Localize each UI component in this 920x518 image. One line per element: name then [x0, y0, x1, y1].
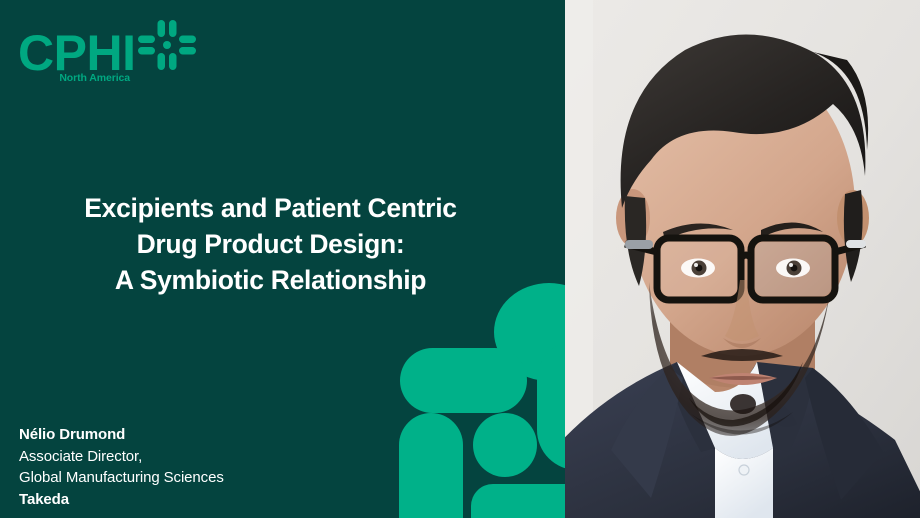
- slide-title: Excipients and Patient Centric Drug Prod…: [0, 190, 541, 298]
- deco-circle-center: [473, 413, 537, 477]
- deco-pill-wide: [400, 348, 527, 413]
- deco-pill-bottom: [471, 484, 565, 518]
- speaker-name: Nélio Drumond: [19, 424, 224, 446]
- slide-left-panel: CPHI North America: [0, 0, 565, 518]
- slide-title-line-2: Drug Product Design:: [0, 226, 541, 262]
- deco-pill-right-tall: [537, 340, 565, 470]
- portrait-illustration: [565, 0, 920, 518]
- cphi-region-label: North America: [18, 72, 130, 84]
- cphi-burst-icon: [136, 16, 198, 74]
- speaker-role-line-1: Associate Director,: [19, 446, 224, 468]
- speaker-block: Nélio Drumond Associate Director, Global…: [19, 424, 224, 510]
- slide-title-line-1: Excipients and Patient Centric: [0, 190, 541, 226]
- cphi-logo: CPHI North America: [18, 14, 193, 92]
- presentation-slide: CPHI North America: [0, 0, 920, 518]
- slide-title-line-3: A Symbiotic Relationship: [0, 262, 541, 298]
- speaker-company: Takeda: [19, 489, 224, 511]
- speaker-role-line-2: Global Manufacturing Sciences: [19, 467, 224, 489]
- speaker-portrait-photo: [565, 0, 920, 518]
- cphi-wordmark: CPHI: [18, 28, 135, 78]
- deco-column-left: [399, 413, 463, 518]
